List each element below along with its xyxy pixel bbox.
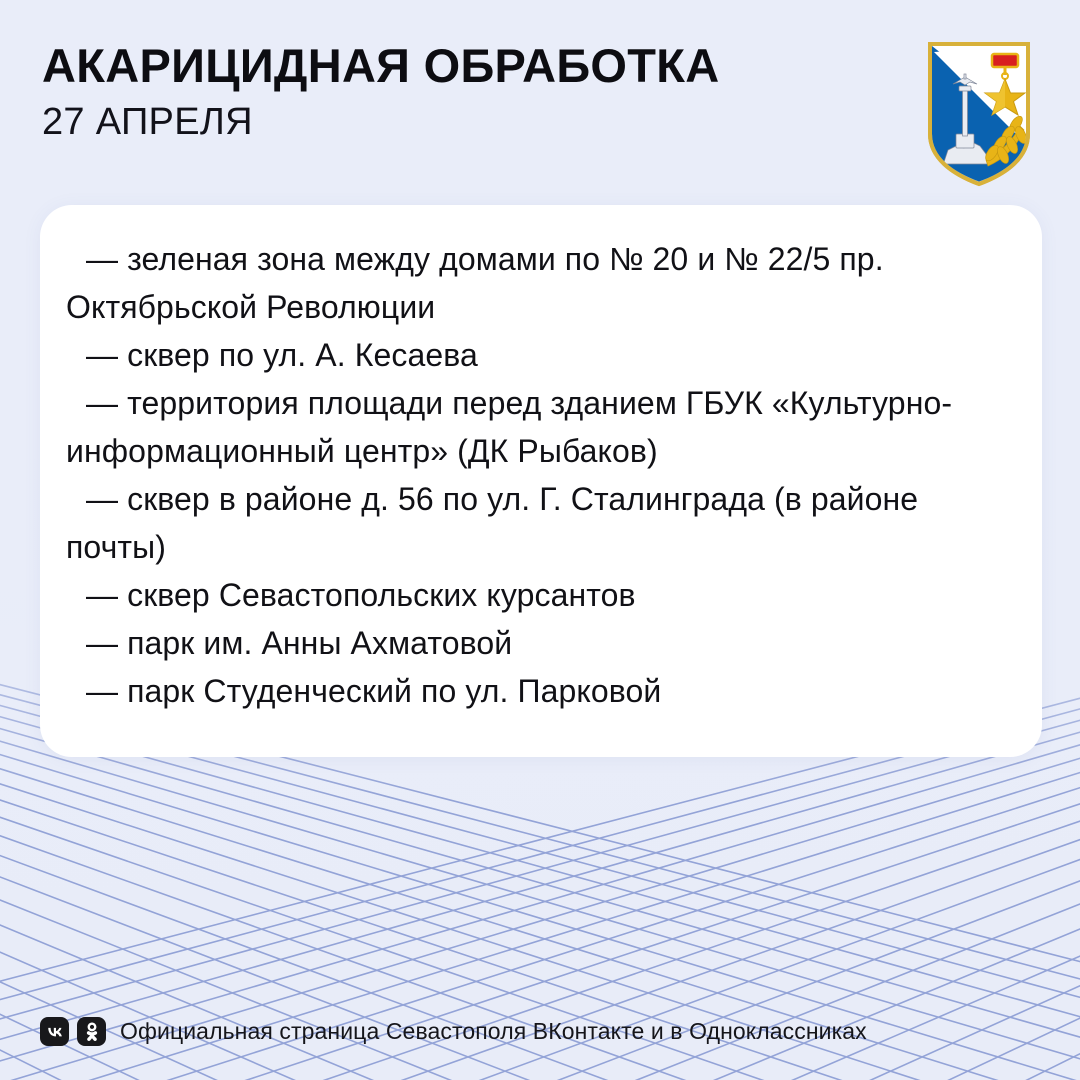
list-item: — парк Студенческий по ул. Парковой: [66, 667, 1016, 715]
treatment-locations-list: — зеленая зона между домами по № 20 и № …: [66, 235, 1016, 715]
title-block: АКАРИЦИДНАЯ ОБРАБОТКА 27 АПРЕЛЯ: [42, 42, 720, 141]
list-item: — территория площади перед зданием ГБУК …: [66, 379, 1016, 475]
page-subtitle: 27 АПРЕЛЯ: [42, 103, 720, 141]
list-item: — сквер в районе д. 56 по ул. Г. Сталинг…: [66, 475, 1016, 571]
header: АКАРИЦИДНАЯ ОБРАБОТКА 27 АПРЕЛЯ: [42, 42, 1038, 192]
content-card: — зеленая зона между домами по № 20 и № …: [40, 205, 1042, 757]
list-item: — парк им. Анны Ахматовой: [66, 619, 1016, 667]
footer-text: Официальная страница Севастополя ВКонтак…: [120, 1017, 867, 1046]
list-item: — зеленая зона между домами по № 20 и № …: [66, 235, 1016, 331]
page-title: АКАРИЦИДНАЯ ОБРАБОТКА: [42, 42, 720, 89]
sevastopol-coat-of-arms-icon: [920, 38, 1038, 190]
list-item: — сквер по ул. А. Кесаева: [66, 331, 1016, 379]
list-item: — сквер Севастопольских курсантов: [66, 571, 1016, 619]
footer: Официальная страница Севастополя ВКонтак…: [40, 1017, 867, 1046]
odnoklassniki-icon[interactable]: [77, 1017, 106, 1046]
poster: АКАРИЦИДНАЯ ОБРАБОТКА 27 АПРЕЛЯ: [0, 0, 1080, 1080]
vk-icon[interactable]: [40, 1017, 69, 1046]
